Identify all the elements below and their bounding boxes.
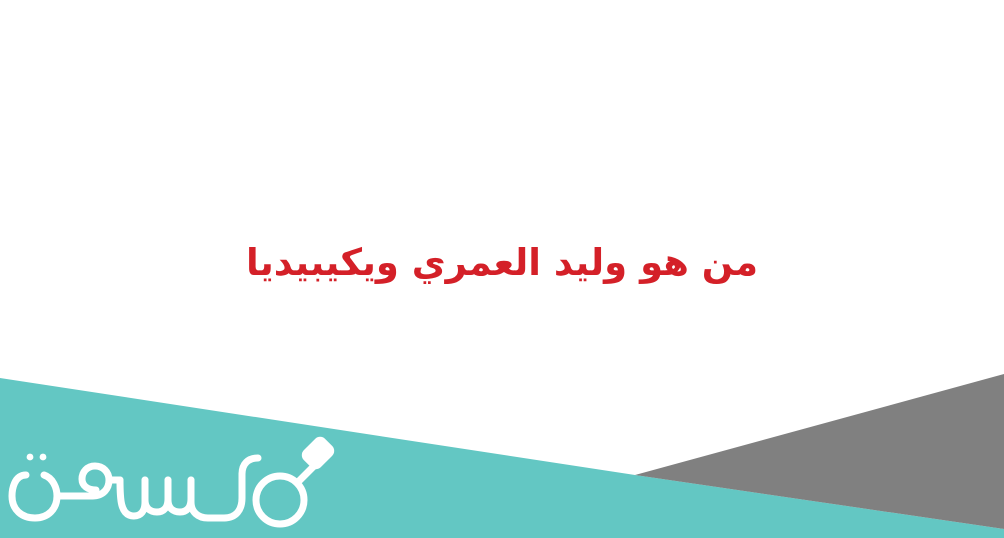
logo-wordmark-mawsooa: [8, 428, 338, 532]
magnifier-waw-icon: [256, 437, 334, 524]
logo-letter-waw-right: [224, 458, 258, 518]
banner-card: من هو وليد العمري ويكيبيديا: [0, 0, 1004, 538]
logo-letter-taa-marbuta: [12, 454, 57, 518]
logo-letter-seen: [145, 480, 224, 518]
logo-letter-waw-left: [109, 480, 145, 516]
headline-text: من هو وليد العمري ويكيبيديا: [246, 240, 758, 286]
logo-letter-ain: [57, 466, 109, 496]
site-logo[interactable]: [8, 428, 338, 532]
headline: من هو وليد العمري ويكيبيديا: [0, 232, 1004, 294]
